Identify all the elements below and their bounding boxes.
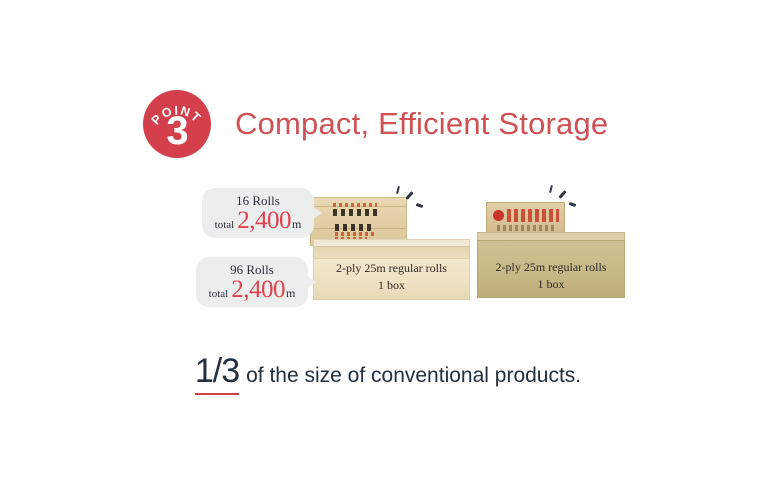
callout-total-amount: 2,400 [237, 208, 291, 234]
footer-text: of the size of conventional products. [246, 364, 581, 387]
callout-total-row: total 2,400 m [196, 277, 308, 303]
sparkle-icon-right [548, 183, 582, 213]
callout-total-unit: m [286, 286, 295, 301]
product-illustration: 2-ply 25m regular rolls 1 box 2-ply 25m … [0, 0, 776, 496]
callout-total-unit: m [292, 217, 301, 232]
footer-statement: 1/3of the size of conventional products. [0, 352, 776, 395]
left-box-caption-line1: 2-ply 25m regular rolls [313, 260, 470, 277]
callout-total-label: total [215, 219, 235, 231]
callout-total-amount: 2,400 [231, 277, 285, 303]
footer-fraction: 1/3 [195, 352, 239, 395]
right-box-caption: 2-ply 25m regular rolls 1 box [477, 259, 625, 293]
left-box-caption-line2: 1 box [313, 277, 470, 294]
right-box-caption-line1: 2-ply 25m regular rolls [477, 259, 625, 276]
callout-bubble-96-rolls: 96 Rolls total 2,400 m [196, 257, 308, 307]
callout-total-row: total 2,400 m [202, 208, 314, 234]
slide-canvas: POINT 3 Compact, Efficient Storage 2-ply… [0, 0, 776, 496]
callout-total-label: total [209, 288, 229, 300]
carton-seal-icon [493, 210, 504, 221]
right-box-caption-line2: 1 box [477, 276, 625, 293]
left-box-caption: 2-ply 25m regular rolls 1 box [313, 260, 470, 294]
sparkle-icon-left [395, 184, 429, 214]
callout-bubble-16-rolls: 16 Rolls total 2,400 m [202, 188, 314, 238]
